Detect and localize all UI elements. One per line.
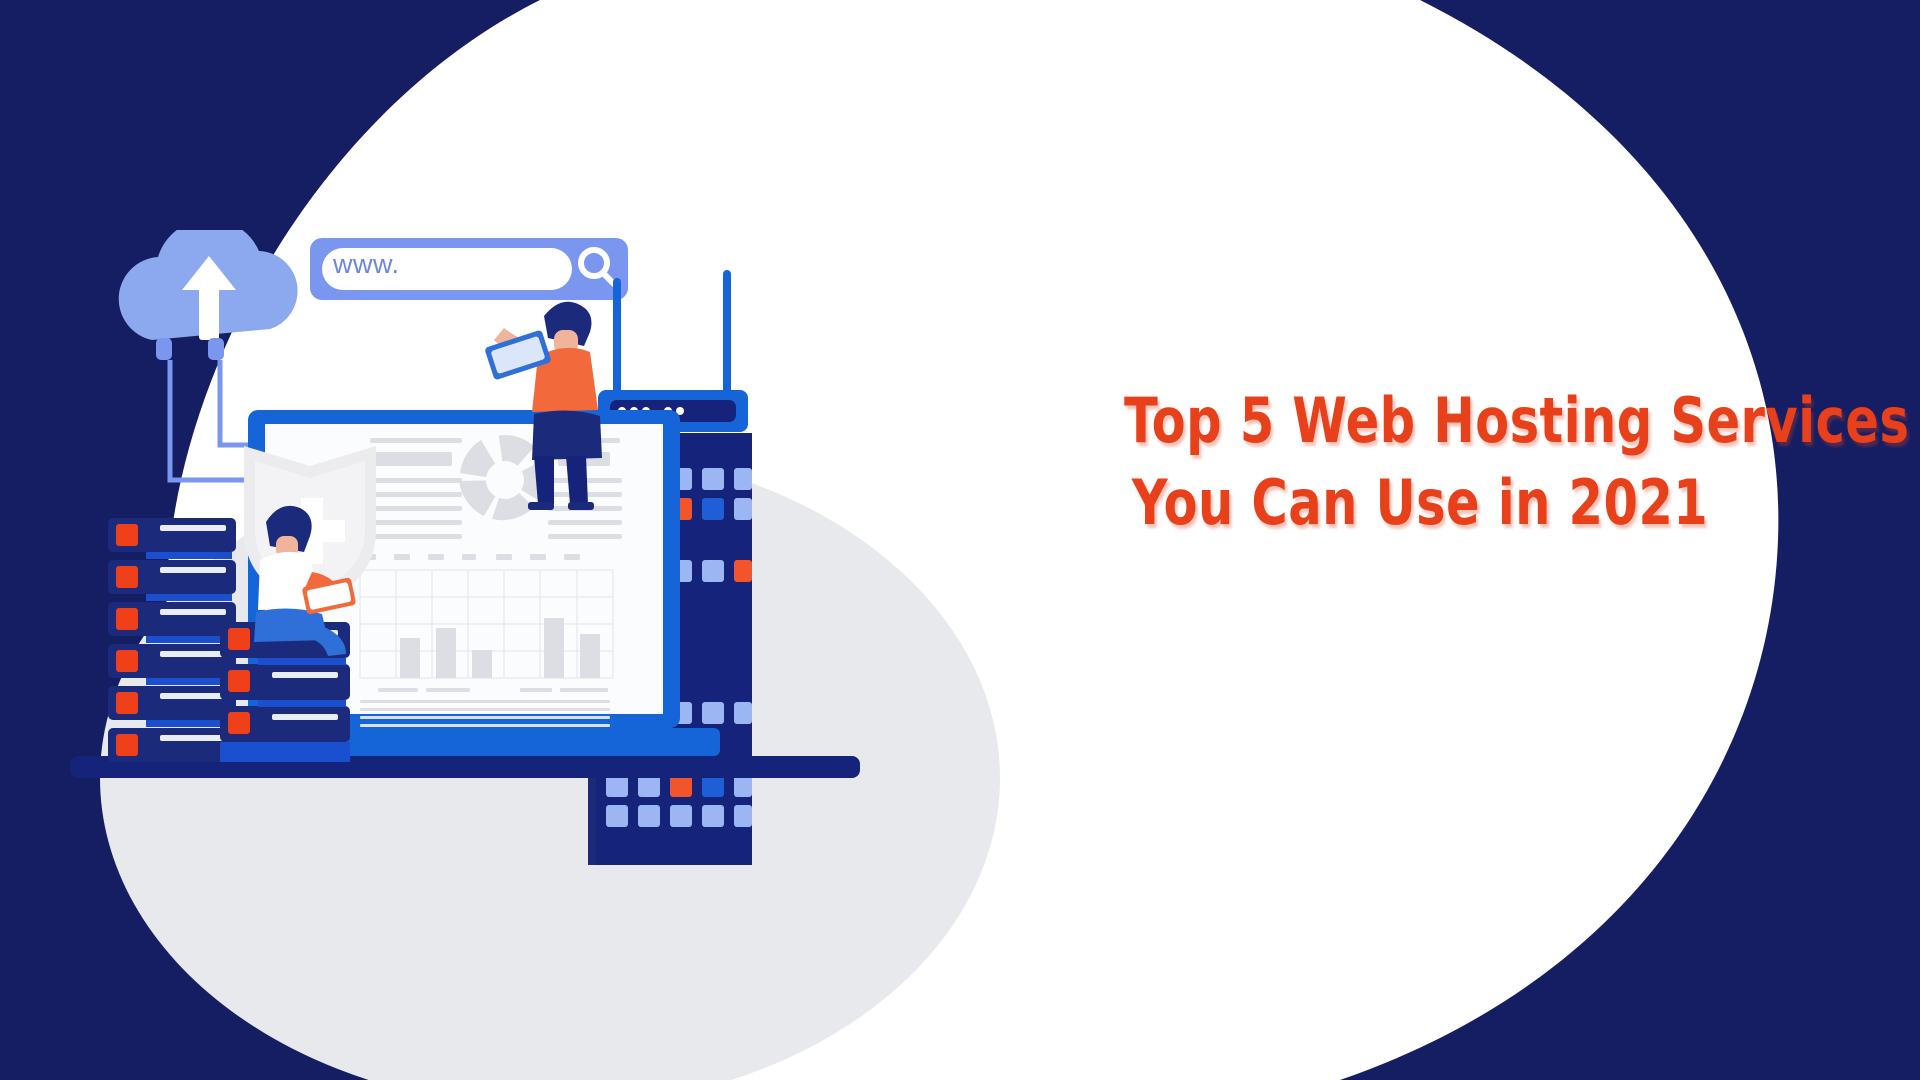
server-unit bbox=[108, 720, 236, 762]
router-dial bbox=[714, 403, 730, 419]
server-unit bbox=[108, 636, 236, 678]
server-unit bbox=[108, 518, 236, 552]
hosting-illustration bbox=[60, 230, 1060, 960]
server-unit bbox=[108, 552, 236, 594]
antenna-left bbox=[613, 278, 621, 398]
poster-canvas: Top 5 Web Hosting Services You Can Use i… bbox=[0, 0, 1920, 1080]
title-line-2: You Can Use in 2021 bbox=[1124, 462, 1716, 544]
pants bbox=[532, 410, 602, 460]
title-line-1: Top 5 Web Hosting Services bbox=[1124, 380, 1716, 462]
server-unit bbox=[108, 594, 236, 636]
server-unit bbox=[220, 658, 350, 700]
search-url-text: www. bbox=[333, 249, 400, 280]
server-unit bbox=[220, 700, 350, 742]
server-stack-tall bbox=[108, 518, 236, 762]
page-title: Top 5 Web Hosting Services You Can Use i… bbox=[1050, 380, 1790, 544]
shoe-left bbox=[528, 502, 554, 510]
cloud-upload-icon bbox=[119, 230, 298, 360]
shoe-right bbox=[568, 502, 594, 510]
antenna-right bbox=[723, 270, 731, 398]
server-unit bbox=[108, 678, 236, 720]
